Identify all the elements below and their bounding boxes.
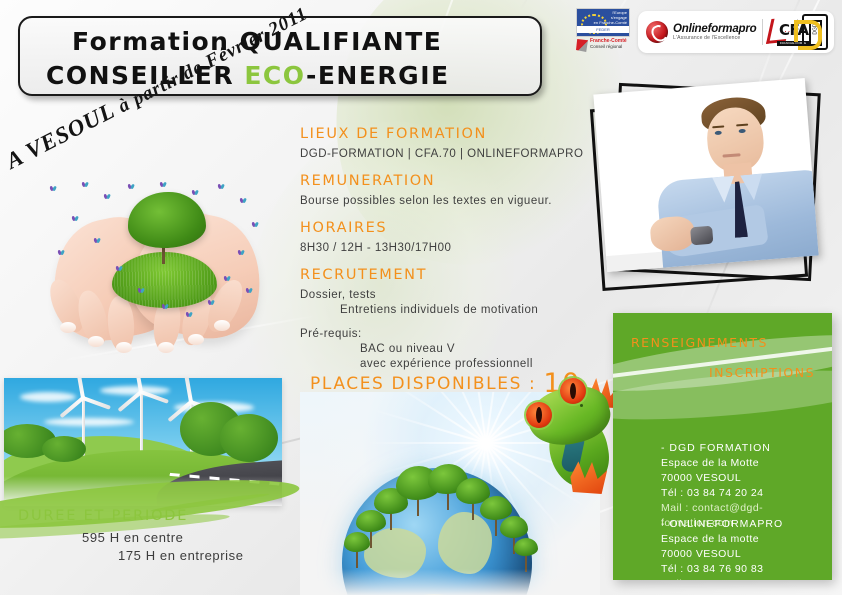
partner-logo-bar: Onlineformapro L'Assurance de l'Excellen… [638,11,834,53]
duree-block: DUREE ET PERIODE 595 H en centre 175 H e… [18,508,244,563]
butterfly [72,216,78,221]
duree-line-2: 175 H en entreprise [118,548,244,563]
butterfly [224,276,230,281]
region-logo-text: Franche-Comté Conseil régional [590,38,627,50]
section-lieux: LIEUX DE FORMATION DGD-FORMATION | CFA.7… [300,126,600,160]
duree-line-1: 595 H en centre [82,530,244,545]
label-prerequis: Pré-requis: [300,328,600,340]
places-label: PLACES DISPONIBLES : [310,374,536,394]
contact-city: 70000 VESOUL [661,471,832,486]
globe-fade [300,569,600,595]
region-logo: Franche-Comté Conseil régional [576,38,632,54]
heading-horaires: HORAIRES [300,220,600,236]
europe-sengage-logo: l'Europe s'engage en Franche-Comté FEDER [576,8,630,37]
fingernail [214,320,230,331]
butterfly [160,182,166,187]
dgd-right-mark-icon [798,20,822,50]
title-line-2: CONSEILLER ECO-ENERGIE [46,61,450,90]
butterfly [240,198,246,203]
section-prerequis: Pré-requis: BAC ou niveau V avec expérie… [300,328,600,370]
frog-nostril [580,404,583,407]
contact-phone: Tél : 03 84 74 20 24 [661,486,832,501]
butterfly [50,186,56,191]
region-mark-icon [576,39,588,52]
tree [220,414,278,462]
butterfly [238,250,244,255]
heading-recrutement: RECRUTEMENT [300,267,600,283]
wristwatch [690,226,713,246]
tree-crown [128,192,206,248]
title-energie: -ENERGIE [306,61,450,90]
landmass [438,512,492,574]
butterfly [58,250,64,255]
fingernail [188,334,204,345]
cfa-logo: CFA .. FRANCHE-COMTE [767,17,793,47]
hands-tree-image [42,180,272,355]
text-horaires: 8H30 / 12H - 13H30/17H00 [300,242,600,254]
section-recrutement: RECRUTEMENT Dossier, tests Entretiens in… [300,267,600,316]
onlineformapro-name: Onlineformapro [673,23,756,35]
info-block: LIEUX DE FORMATION DGD-FORMATION | CFA.7… [300,126,600,373]
businessman-photo [592,84,832,284]
fingernail [88,336,104,347]
contact-address: Espace de la Motte [661,456,832,471]
contact-name: - ONLINEFORMAPRO [661,517,832,532]
title-eco: ECO [244,61,306,90]
photo-card [593,78,818,272]
dgd-logo: DGD [802,14,828,50]
onlineformapro-sphere-icon [646,21,668,43]
butterfly [218,184,224,189]
globe-tree [500,516,528,538]
butterfly [246,288,252,293]
fingernail [60,322,76,333]
text-entretiens: Entretiens individuels de motivation [340,304,600,316]
fingernail [158,342,174,353]
contact-city: 70000 VESOUL [661,547,832,562]
butterfly [192,190,198,195]
butterfly [208,300,214,305]
sun-ray [366,442,486,444]
duree-title: DUREE ET PERIODE [18,508,244,524]
text-remuneration: Bourse possibles selon les textes en vig… [300,195,600,207]
contact-mail[interactable]: mail : contact@onlineformapro.com [661,577,832,580]
globe-tree [344,532,370,552]
cloud [20,392,76,402]
cloud [44,418,134,426]
eu-logo-band: FEDER [577,26,629,33]
panel-heading-renseignements: RENSEIGNEMENTS [631,335,768,350]
butterfly [138,288,144,293]
institutional-logos: l'Europe s'engage en Franche-Comté FEDER… [572,6,632,58]
contact-name: - DGD FORMATION [661,441,832,456]
butterfly [116,266,122,271]
fingernail [116,342,132,353]
heading-remuneration: REMUNERATION [300,173,600,189]
frog-eye [526,402,552,428]
eu-line-3: en Franche-Comté [594,20,627,25]
logo-divider [762,19,763,45]
text-bac: BAC ou niveau V [360,343,600,355]
heading-lieux: LIEUX DE FORMATION [300,126,600,142]
text-lieux: DGD-FORMATION | CFA.70 | ONLINEFORMAPRO [300,148,600,160]
contact-address: Espace de la motte [661,532,832,547]
contact-panel: RENSEIGNEMENTS INSCRIPTIONS - DGD FORMAT… [613,313,832,580]
contact-phone: Tél : 03 84 76 90 83 [661,562,832,577]
butterfly [252,222,258,227]
globe-tree-crown [500,516,528,538]
butterfly [94,238,100,243]
panel-heading-inscriptions: INSCRIPTIONS [709,365,815,380]
butterfly [82,182,88,187]
section-horaires: HORAIRES 8H30 / 12H - 13H30/17H00 [300,220,600,254]
cfa-dots: .. [784,24,791,34]
bush [42,436,86,462]
onlineformapro-logo: Onlineformapro L'Assurance de l'Excellen… [638,21,762,43]
butterfly [104,194,110,199]
poster-canvas: Formation QUALIFIANTE CONSEILLER ECO-ENE… [0,0,842,595]
globe-tree [514,538,538,556]
onlineformapro-tagline: L'Assurance de l'Excellence [673,35,756,41]
globe-tree-crown [344,532,370,552]
section-remuneration: REMUNERATION Bourse possibles selon les … [300,173,600,207]
butterfly [128,184,134,189]
text-dossier: Dossier, tests [300,289,600,301]
butterfly [186,312,192,317]
eu-logo-text: l'Europe s'engage en Franche-Comté [594,10,627,25]
butterfly [162,304,168,309]
region-sub: Conseil régional [590,44,622,49]
globe-tree-crown [514,538,538,556]
frog-eye [560,378,586,404]
contact-onlineformapro: - ONLINEFORMAPRO Espace de la motte 7000… [661,517,832,580]
